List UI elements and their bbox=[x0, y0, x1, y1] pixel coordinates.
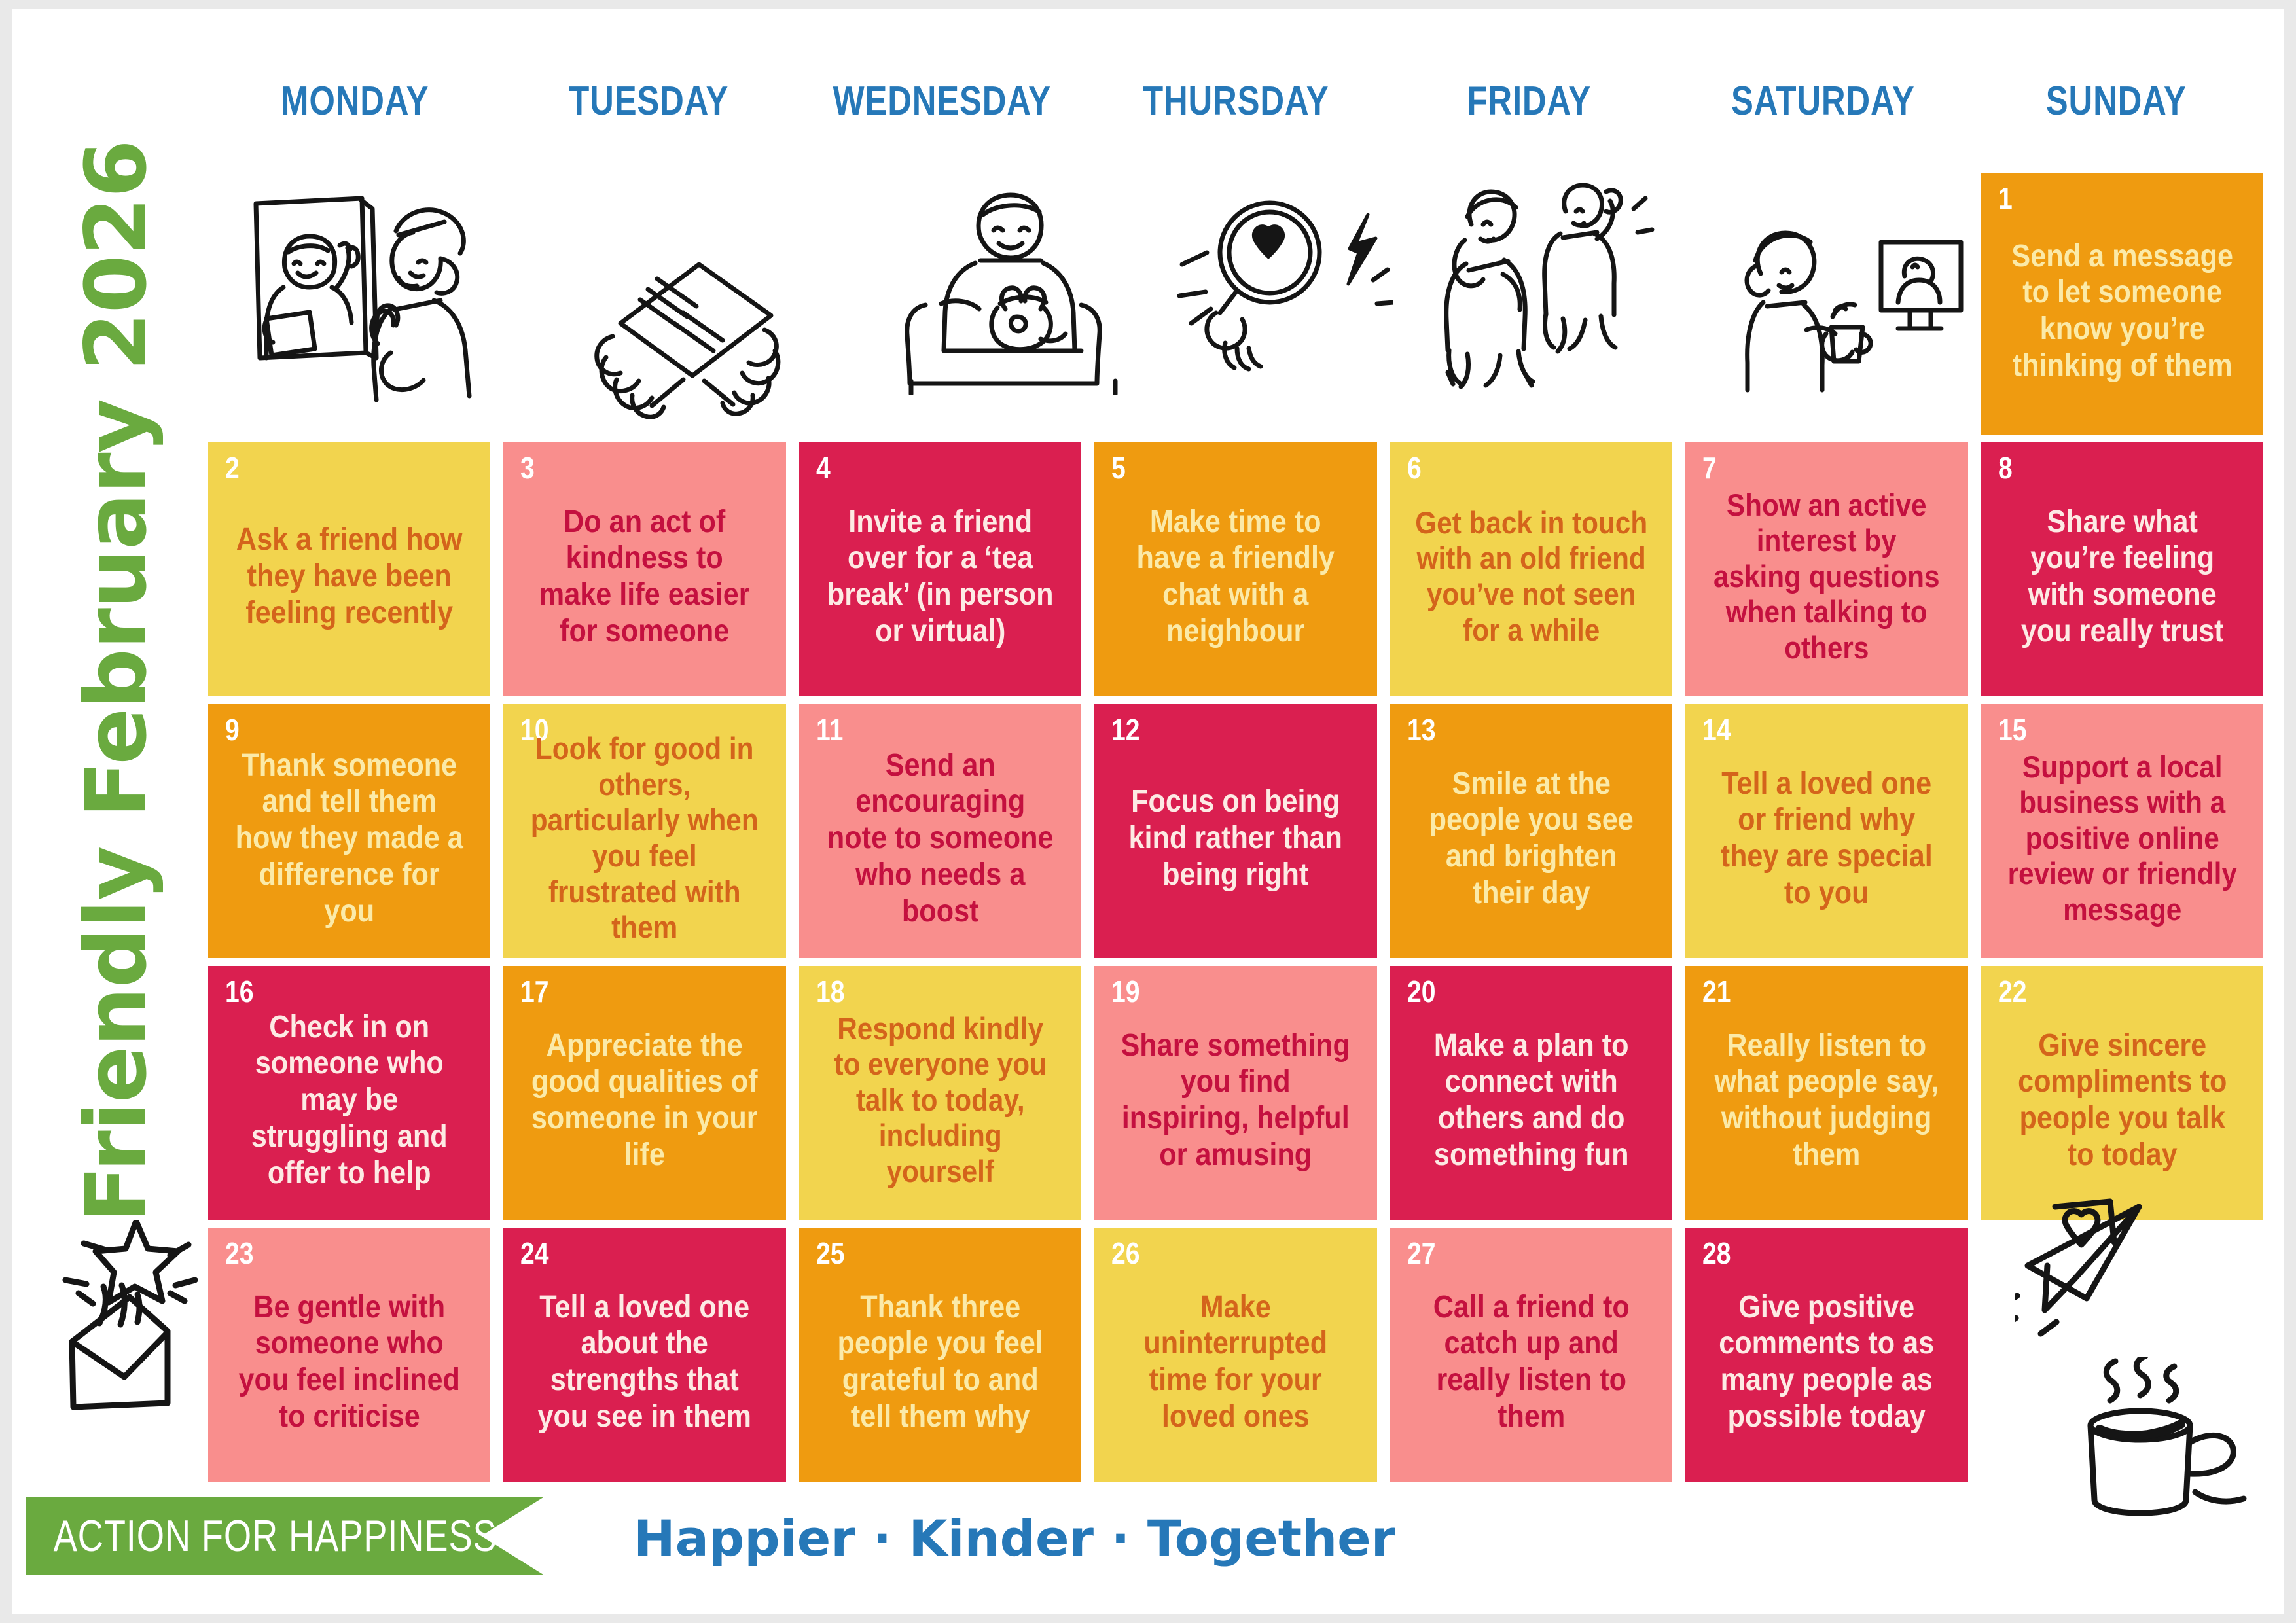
day-number: 24 bbox=[520, 1238, 548, 1268]
calendar-day-cell[interactable]: 19Share something you find inspiring, he… bbox=[1094, 966, 1376, 1220]
calendar-day-cell[interactable]: 12Focus on being kind rather than being … bbox=[1094, 704, 1376, 958]
title-rail: Friendly February 2026 bbox=[12, 9, 202, 1318]
calendar-day-cell[interactable]: 21Really listen to what people say, with… bbox=[1685, 966, 1967, 1220]
weekday-header-wednesday: WEDNESDAY bbox=[822, 78, 1063, 124]
day-action-text: Check in on someone who may be strugglin… bbox=[233, 997, 466, 1191]
day-action-text: Share what you’re feeling with someone y… bbox=[2005, 492, 2238, 650]
calendar-day-cell[interactable]: 18Respond kindly to everyone you talk to… bbox=[799, 966, 1081, 1220]
day-action-text: Tell a loved one or friend why they are … bbox=[1710, 754, 1943, 912]
brand-label: ACTION FOR HAPPINESS bbox=[26, 1510, 497, 1561]
day-number: 27 bbox=[1407, 1238, 1435, 1268]
hand-holding-steaming-mug-illustration bbox=[2054, 1357, 2250, 1521]
day-action-text: Focus on being kind rather than being ri… bbox=[1119, 772, 1352, 893]
day-action-text: Thank three people you feel grateful to … bbox=[824, 1277, 1057, 1435]
calendar-day-cell[interactable]: 27Call a friend to catch up and really l… bbox=[1390, 1228, 1672, 1482]
day-action-text: Look for good in others, particularly wh… bbox=[528, 719, 761, 945]
day-number: 12 bbox=[1111, 715, 1139, 745]
day-action-text: Make uninterrupted time for your loved o… bbox=[1119, 1277, 1352, 1435]
neighbour-at-window-illustration bbox=[238, 189, 512, 405]
day-action-text: Give sincere compliments to people you t… bbox=[2005, 1016, 2238, 1173]
day-action-text: Invite a friend over for a ‘tea break’ (… bbox=[824, 492, 1057, 650]
day-number: 25 bbox=[816, 1238, 844, 1268]
day-number: 6 bbox=[1407, 453, 1422, 483]
footer: ACTION FOR HAPPINESS Happier · Kinder · … bbox=[12, 1497, 2284, 1582]
calendar-day-cell[interactable]: 24Tell a loved one about the strengths t… bbox=[503, 1228, 785, 1482]
calendar-day-cell[interactable]: 15Support a local business with a positi… bbox=[1981, 704, 2263, 958]
calendar-page: Friendly February 2026 MONDAYTUESDAYWEDN… bbox=[12, 9, 2284, 1614]
brand-ribbon[interactable]: ACTION FOR HAPPINESS bbox=[26, 1497, 543, 1575]
calendar-day-cell[interactable]: 16Check in on someone who may be struggl… bbox=[208, 966, 490, 1220]
weekday-header-thursday: THURSDAY bbox=[1115, 78, 1356, 124]
calendar-day-cell[interactable]: 11Send an encouraging note to someone wh… bbox=[799, 704, 1081, 958]
person-in-armchair-with-dog-illustration bbox=[902, 186, 1124, 395]
day-action-text: Call a friend to catch up and really lis… bbox=[1414, 1277, 1647, 1435]
day-number: 20 bbox=[1407, 976, 1435, 1007]
day-action-text: Smile at the people you see and brighten… bbox=[1414, 754, 1647, 912]
day-action-text: Give positive comments to as many people… bbox=[1710, 1277, 1943, 1435]
day-number: 17 bbox=[520, 976, 548, 1007]
calendar-day-cell[interactable]: 6Get back in touch with an old friend yo… bbox=[1390, 442, 1672, 696]
calendar-day-cell[interactable]: 8Share what you’re feeling with someone … bbox=[1981, 442, 2263, 696]
day-number: 3 bbox=[520, 453, 535, 483]
calendar-day-cell[interactable]: 7Show an active interest by asking quest… bbox=[1685, 442, 1967, 696]
day-number: 5 bbox=[1111, 453, 1126, 483]
day-action-text: Appreciate the good qualities of someone… bbox=[528, 1016, 761, 1173]
day-number: 8 bbox=[1998, 453, 2013, 483]
day-action-text: Send an encouraging note to someone who … bbox=[824, 736, 1057, 929]
day-number: 4 bbox=[816, 453, 831, 483]
day-action-text: Support a local business with a positive… bbox=[2005, 738, 2238, 928]
people-walking-waving-illustration bbox=[1426, 183, 1661, 392]
weekday-header-friday: FRIDAY bbox=[1409, 78, 1650, 124]
day-action-text: Make time to have a friendly chat with a… bbox=[1119, 492, 1352, 650]
calendar-day-cell[interactable]: 23Be gentle with someone who you feel in… bbox=[208, 1228, 490, 1482]
calendar-day-cell[interactable]: 28Give positive comments to as many peop… bbox=[1685, 1228, 1967, 1482]
page-title: Friendly February 2026 bbox=[68, 45, 166, 1223]
day-action-text: Respond kindly to everyone you talk to t… bbox=[824, 999, 1057, 1190]
day-action-text: Be gentle with someone who you feel incl… bbox=[233, 1277, 466, 1435]
day-number: 19 bbox=[1111, 976, 1139, 1007]
envelope-with-star-illustration bbox=[35, 1220, 212, 1436]
day-number: 23 bbox=[225, 1238, 253, 1268]
calendar-day-cell[interactable]: 13Smile at the people you see and bright… bbox=[1390, 704, 1672, 958]
paper-plane-with-heart-illustration bbox=[2015, 1194, 2204, 1344]
day-number: 1 bbox=[1998, 183, 2013, 213]
weekday-header-saturday: SATURDAY bbox=[1702, 78, 1943, 124]
day-action-text: Tell a loved one about the strengths tha… bbox=[528, 1277, 761, 1435]
calendar-day-cell[interactable]: 26Make uninterrupted time for your loved… bbox=[1094, 1228, 1376, 1482]
calendar-day-cell[interactable]: 2Ask a friend how they have been feeling… bbox=[208, 442, 490, 696]
day-action-text: Do an act of kindness to make life easie… bbox=[528, 492, 761, 650]
day-number: 21 bbox=[1702, 976, 1731, 1007]
calendar-day-cell[interactable]: 4Invite a friend over for a ‘tea break’ … bbox=[799, 442, 1081, 696]
day-number: 26 bbox=[1111, 1238, 1139, 1268]
weekday-header-tuesday: TUESDAY bbox=[528, 78, 769, 124]
calendar-day-cell[interactable]: 20Make a plan to connect with others and… bbox=[1390, 966, 1672, 1220]
calendar-day-cell[interactable]: 22Give sincere compliments to people you… bbox=[1981, 966, 2263, 1220]
weekday-header-row: MONDAYTUESDAYWEDNESDAYTHURSDAYFRIDAYSATU… bbox=[208, 78, 2263, 124]
calendar-day-cell[interactable]: 9Thank someone and tell them how they ma… bbox=[208, 704, 490, 958]
day-number: 2 bbox=[225, 453, 240, 483]
day-number: 13 bbox=[1407, 715, 1435, 745]
calendar-day-cell[interactable]: 3Do an act of kindness to make life easi… bbox=[503, 442, 785, 696]
calendar-day-cell[interactable]: 17Appreciate the good qualities of someo… bbox=[503, 966, 785, 1220]
weekday-header-monday: MONDAY bbox=[234, 78, 475, 124]
day-number: 22 bbox=[1998, 976, 2026, 1007]
calendar-day-cell[interactable]: 10Look for good in others, particularly … bbox=[503, 704, 785, 958]
calendar-day-cell[interactable]: 25Thank three people you feel grateful t… bbox=[799, 1228, 1081, 1482]
weekday-header-sunday: SUNDAY bbox=[1996, 78, 2237, 124]
day-action-text: Thank someone and tell them how they mad… bbox=[233, 736, 466, 929]
video-call-with-tea-illustration bbox=[1727, 219, 1969, 395]
day-number: 28 bbox=[1702, 1238, 1731, 1268]
calendar-day-cell[interactable]: 1Send a message to let someone know you’… bbox=[1981, 173, 2263, 435]
calendar-day-cell[interactable]: 14Tell a loved one or friend why they ar… bbox=[1685, 704, 1967, 958]
day-action-text: Get back in touch with an old friend you… bbox=[1414, 493, 1647, 648]
day-action-text: Make a plan to connect with others and d… bbox=[1414, 1016, 1647, 1173]
hands-holding-letter-illustration bbox=[575, 245, 810, 435]
calendar-day-cell[interactable]: 5Make time to have a friendly chat with … bbox=[1094, 442, 1376, 696]
day-action-text: Show an active interest by asking questi… bbox=[1710, 476, 1943, 666]
day-action-text: Share something you find inspiring, help… bbox=[1119, 1016, 1352, 1173]
day-action-text: Really listen to what people say, withou… bbox=[1710, 1016, 1943, 1173]
tagline: Happier · Kinder · Together bbox=[634, 1509, 1395, 1567]
magnifying-glass-heart-illustration bbox=[1177, 192, 1393, 382]
day-number: 14 bbox=[1702, 715, 1731, 745]
day-action-text: Send a message to let someone know you’r… bbox=[2005, 226, 2238, 384]
day-action-text: Ask a friend how they have been feeling … bbox=[233, 510, 466, 631]
